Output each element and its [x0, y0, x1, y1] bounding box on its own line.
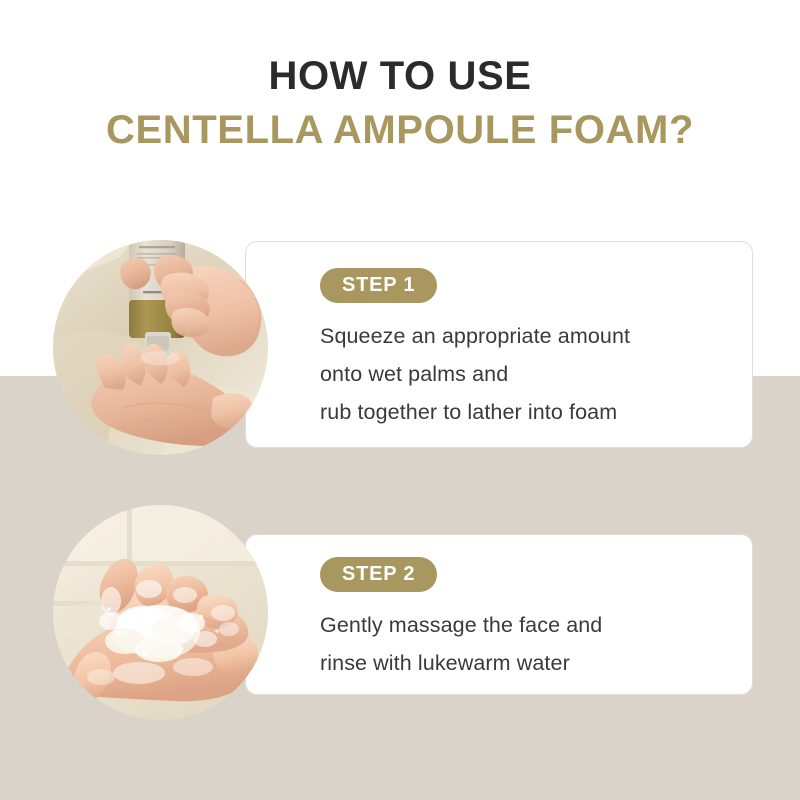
step-badge-1: STEP 1 [320, 268, 437, 303]
step-badge-2: STEP 2 [320, 557, 437, 592]
how-to-use-poster: HOW TO USE CENTELLA AMPOULE FOAM? STEP 1… [0, 0, 800, 800]
step-1-line-2: onto wet palms and [320, 355, 734, 393]
hand-holding-tube-illustration [53, 240, 268, 455]
step-2-photo [53, 505, 268, 720]
step-card-2: STEP 2 Gently massage the face and rinse… [245, 534, 753, 695]
step-card-1: STEP 1 Squeeze an appropriate amount ont… [245, 241, 753, 448]
step-2-text: Gently massage the face and rinse with l… [320, 606, 734, 682]
step-1-text: Squeeze an appropriate amount onto wet p… [320, 317, 734, 431]
page-title: HOW TO USE CENTELLA AMPOULE FOAM? [0, 52, 800, 154]
step-2-line-1: Gently massage the face and [320, 606, 734, 644]
step-1-line-1: Squeeze an appropriate amount [320, 317, 734, 355]
page-title-line-1: HOW TO USE [0, 52, 800, 100]
step-1-content: STEP 1 Squeeze an appropriate amount ont… [320, 268, 734, 431]
step-1-photo [53, 240, 268, 455]
page-title-line-2: CENTELLA AMPOULE FOAM? [0, 106, 800, 154]
step-2-content: STEP 2 Gently massage the face and rinse… [320, 557, 734, 682]
step-1-line-3: rub together to lather into foam [320, 393, 734, 431]
step-2-line-2: rinse with lukewarm water [320, 644, 734, 682]
lathered-hands-illustration [53, 505, 268, 720]
